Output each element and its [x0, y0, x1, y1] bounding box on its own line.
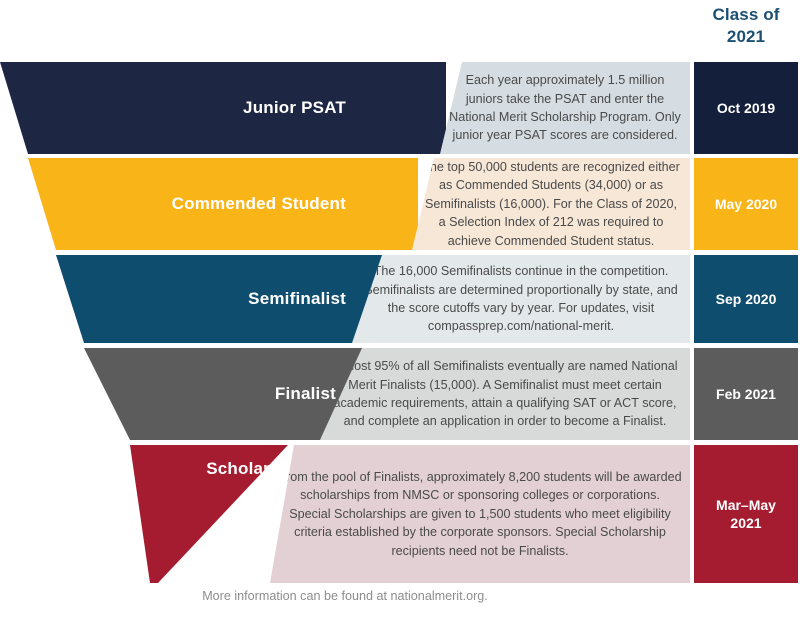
date-chip-scholar: Mar–May 2021 [694, 445, 798, 583]
description-panel-finalist: Almost 95% of all Semifinalists eventual… [320, 348, 690, 440]
date-chip-junior-psat: Oct 2019 [694, 62, 798, 154]
date-chip-semifinalist: Sep 2020 [694, 255, 798, 343]
class-of-header-line2: 2021 [694, 26, 798, 48]
date-text-junior-psat: Oct 2019 [717, 99, 775, 117]
funnel-label-commended-student: Commended Student [172, 194, 346, 214]
description-panel-semifinalist: The 16,000 Semifinalists continue in the… [352, 255, 690, 343]
funnel-label-junior-psat: Junior PSAT [243, 98, 346, 118]
description-text-semifinalist: The 16,000 Semifinalists continue in the… [352, 262, 690, 336]
national-merit-funnel-infographic: Class of 2021 Junior PSAT Each year appr… [0, 0, 800, 618]
funnel-segment-finalist: Finalist [0, 348, 362, 440]
description-text-scholar: From the pool of Finalists, approximatel… [270, 468, 690, 560]
description-panel-commended-student: The top 50,000 students are recognized e… [412, 158, 690, 250]
stage-row-scholar: Scholar From the pool of Finalists, appr… [0, 445, 800, 583]
date-text-scholar: Mar–May 2021 [716, 496, 776, 532]
class-of-header: Class of 2021 [694, 4, 798, 48]
date-text-semifinalist: Sep 2020 [716, 290, 777, 308]
funnel-label-finalist: Finalist [275, 384, 336, 404]
stage-row-semifinalist: Semifinalist The 16,000 Semifinalists co… [0, 255, 800, 343]
description-text-junior-psat: Each year approximately 1.5 million juni… [440, 71, 690, 145]
funnel-segment-scholar: Scholar [0, 445, 288, 583]
footer-note: More information can be found at nationa… [0, 589, 690, 603]
class-of-header-line1: Class of [694, 4, 798, 26]
funnel-label-semifinalist: Semifinalist [248, 289, 346, 309]
date-text-commended-student: May 2020 [715, 195, 777, 213]
stage-row-commended-student: Commended Student The top 50,000 student… [0, 158, 800, 250]
funnel-segment-semifinalist: Semifinalist [0, 255, 390, 343]
description-text-commended-student: The top 50,000 students are recognized e… [412, 158, 690, 250]
date-chip-finalist: Feb 2021 [694, 348, 798, 440]
description-text-finalist: Almost 95% of all Semifinalists eventual… [320, 357, 690, 431]
stage-row-junior-psat: Junior PSAT Each year approximately 1.5 … [0, 62, 800, 154]
description-panel-scholar: From the pool of Finalists, approximatel… [270, 445, 690, 583]
funnel-label-scholar: Scholar [206, 459, 270, 479]
funnel-segment-junior-psat: Junior PSAT [0, 62, 446, 154]
date-chip-commended-student: May 2020 [694, 158, 798, 250]
description-panel-junior-psat: Each year approximately 1.5 million juni… [440, 62, 690, 154]
funnel-segment-commended-student: Commended Student [0, 158, 418, 250]
stage-row-finalist: Finalist Almost 95% of all Semifinalists… [0, 348, 800, 440]
date-text-finalist: Feb 2021 [716, 385, 776, 403]
